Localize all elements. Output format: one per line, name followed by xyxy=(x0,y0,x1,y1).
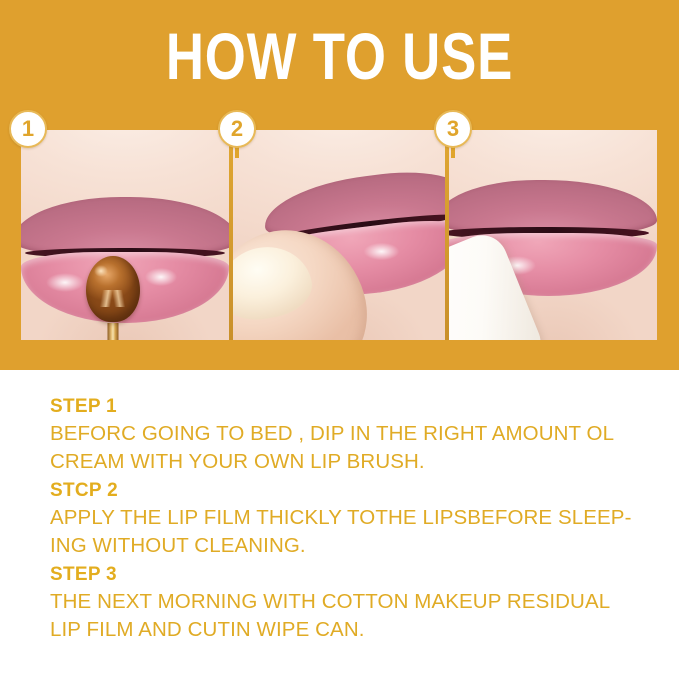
fingernail-icon xyxy=(233,240,317,327)
step-image-1 xyxy=(21,130,229,340)
photo-strip xyxy=(21,130,657,340)
step-3-body: THE NEXT MORNING WITH COTTON MAKEUP RESI… xyxy=(50,588,650,644)
step-badge-2-number: 2 xyxy=(218,110,256,148)
step-image-2 xyxy=(233,130,444,340)
step-badge-2: 2 xyxy=(218,110,256,148)
step-2-heading: STCP 2 xyxy=(50,478,650,504)
step-1-body: BEFORC GOING TO BED , DIP IN THE RIGHT A… xyxy=(50,420,650,476)
step-badge-1-number: 1 xyxy=(9,110,47,148)
step-badge-1: 1 xyxy=(9,110,47,148)
step-image-3 xyxy=(449,130,657,340)
step-3-heading: STEP 3 xyxy=(50,562,650,588)
page-title: HOW TO USE xyxy=(68,22,611,90)
instruction-step-2: STCP 2 APPLY THE LIP FILM THICKLY TOTHE … xyxy=(50,478,650,560)
applicator-bead-icon xyxy=(86,256,140,322)
step-2-body: APPLY THE LIP FILM THICKLY TOTHE LIPSBEF… xyxy=(50,504,650,560)
applicator-handle-icon xyxy=(107,323,118,340)
step-1-heading: STEP 1 xyxy=(50,394,650,420)
step-badge-3-number: 3 xyxy=(434,110,472,148)
instruction-step-3: STEP 3 THE NEXT MORNING WITH COTTON MAKE… xyxy=(50,562,650,644)
instructions-list: STEP 1 BEFORC GOING TO BED , DIP IN THE … xyxy=(50,394,650,646)
step-badge-3: 3 xyxy=(434,110,472,148)
instruction-step-1: STEP 1 BEFORC GOING TO BED , DIP IN THE … xyxy=(50,394,650,476)
how-to-use-infographic: HOW TO USE xyxy=(0,0,679,679)
